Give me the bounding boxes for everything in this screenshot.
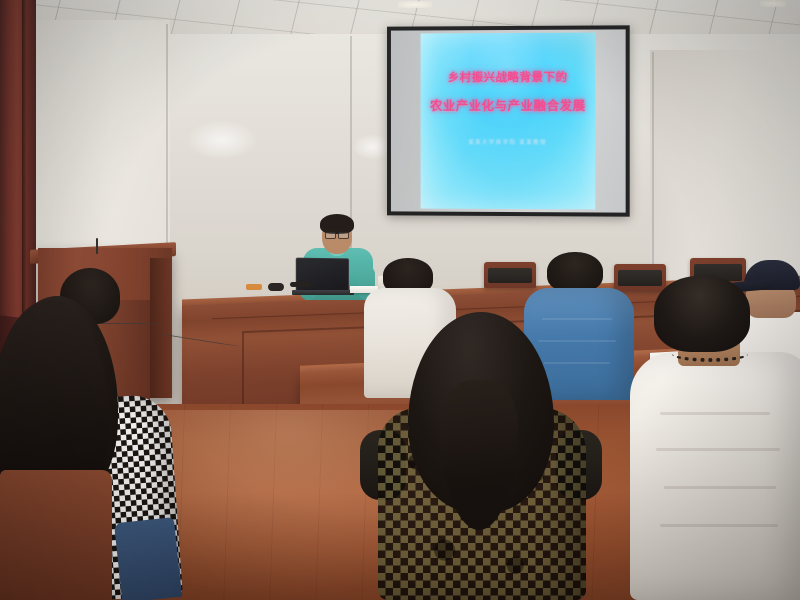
ceiling-light [760,0,786,7]
screen-glare [421,33,596,210]
audience-jeans [114,517,182,600]
fabric-fold [542,318,612,320]
chair-back [0,470,112,600]
laptop-base [292,290,354,295]
wall-light-reflection [186,120,258,160]
podium-cable [96,238,98,254]
fabric-fold [660,412,770,415]
slide-title-line-2: 农业产业化与产业融合发展 [421,95,596,114]
fabric-fold [660,524,778,527]
slide-title-line-1: 乡村振兴战略背景下的 [421,69,596,85]
projection-screen: 乡村振兴战略背景下的 农业产业化与产业融合发展 某某大学商学院 某某教授 [387,25,630,216]
ceiling-light [398,1,432,8]
desk-mouse [268,283,284,291]
laptop [296,258,349,295]
slide-subtitle: 某某大学商学院 某某教授 [421,138,596,146]
chair [484,262,536,288]
wall-light-reflection [352,134,392,160]
fabric-fold [656,448,780,451]
podium-shadow [150,258,172,398]
lecture-hall-photo: 乡村振兴战略背景下的 农业产业化与产业融合发展 某某大学商学院 某某教授 [0,0,800,600]
desk-remote [246,284,262,290]
chair [614,264,666,291]
audience-hair [654,276,750,352]
fabric-fold [544,362,610,364]
wall-column-edge [22,0,27,330]
audience-head [547,252,603,292]
chair-seat [618,270,662,286]
wall-column [0,0,36,330]
desk-microphone [290,282,312,287]
screen-surface: 乡村振兴战略背景下的 农业产业化与产业融合发展 某某大学商学院 某某教授 [391,29,626,212]
fabric-fold [664,486,776,489]
chair-seat [488,268,532,283]
fabric-fold [538,340,616,342]
projected-slide: 乡村振兴战略背景下的 农业产业化与产业融合发展 某某大学商学院 某某教授 [421,33,596,210]
audience-torso-white-tee [630,352,800,600]
eyeglasses-icon [325,231,349,237]
